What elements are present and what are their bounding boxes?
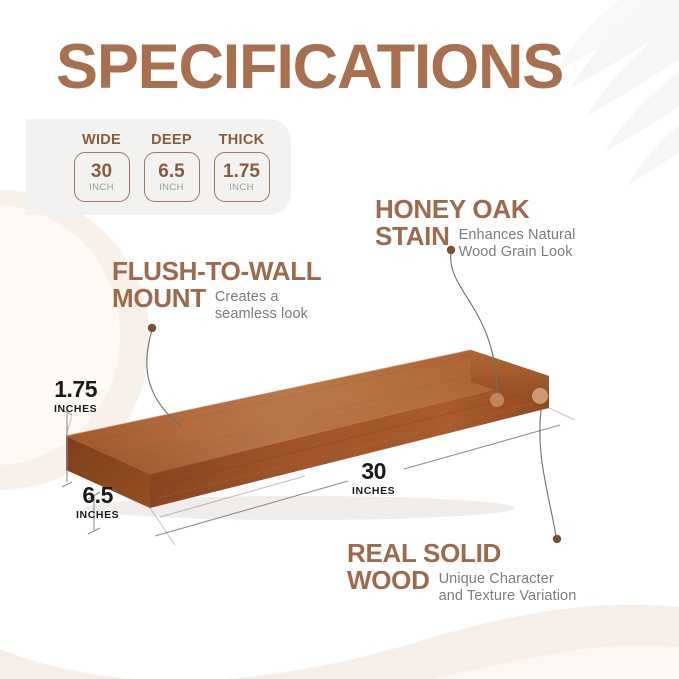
callout-wood-heading-line2: WOOD [347, 567, 430, 594]
callout-flush-subtext: Creates a seamless look [215, 285, 308, 324]
spec-value-thick: 1.75 [223, 162, 260, 181]
shelf-front-face [150, 376, 549, 508]
spec-unit-wide: INCH [89, 182, 114, 193]
leader-contact-stain [490, 393, 504, 407]
spec-unit-deep: INCH [159, 182, 184, 193]
leader-dot-flush [148, 324, 156, 332]
spec-item-thick: THICK 1.75 INCH [214, 132, 270, 202]
dimension-depth-unit: INCHES [76, 509, 119, 521]
leader-contact-wood [532, 388, 548, 404]
callout-wood-sub-line1: Unique Character [439, 571, 577, 589]
spec-label-thick: THICK [219, 132, 265, 148]
dimension-label-depth: 6.5 INCHES [76, 484, 119, 521]
leader-wood [540, 410, 556, 536]
callout-real-solid-wood: REAL SOLID WOOD Unique Character and Tex… [347, 540, 576, 606]
cream-blob-inner [0, 205, 120, 465]
spec-box-deep: 6.5 INCH [144, 152, 200, 202]
callout-wood-subtext: Unique Character and Texture Variation [439, 567, 577, 606]
infographic-canvas: SPECIFICATIONS WIDE 30 INCH DEEP 6.5 INC… [0, 0, 679, 679]
spec-label-deep: DEEP [151, 132, 192, 148]
callout-flush-to-wall-mount: FLUSH-TO-WALL MOUNT Creates a seamless l… [112, 258, 321, 324]
spec-value-wide: 30 [91, 162, 112, 181]
page-title: SPECIFICATIONS [56, 36, 563, 99]
bottom-wave-shape [0, 529, 679, 679]
callout-stain-heading-line2: STAIN [375, 223, 450, 250]
callout-wood-sub-line2: and Texture Variation [439, 588, 577, 606]
spec-item-wide: WIDE 30 INCH [74, 132, 130, 202]
callout-flush-heading-line1: FLUSH-TO-WALL [112, 258, 321, 285]
callout-wood-heading-line1: REAL SOLID [347, 540, 576, 567]
callout-stain-sub-line2: Wood Grain Look [459, 244, 576, 262]
shelf-right-end-face [471, 350, 549, 408]
dimension-thickness-unit: INCHES [54, 403, 97, 415]
spec-item-deep: DEEP 6.5 INCH [144, 132, 200, 202]
callout-honey-oak-stain: HONEY OAK STAIN Enhances Natural Wood Gr… [375, 196, 575, 262]
spec-box-thick: 1.75 INCH [214, 152, 270, 202]
dimension-label-width: 30 INCHES [352, 460, 395, 497]
callout-flush-heading-line2: MOUNT [112, 285, 206, 312]
callout-flush-sub-line1: Creates a [215, 289, 308, 307]
dimension-width-value: 30 [352, 460, 395, 483]
spec-label-wide: WIDE [82, 132, 121, 148]
leader-stain [451, 252, 497, 398]
callout-flush-sub-line2: seamless look [215, 306, 308, 324]
specification-card: WIDE 30 INCH DEEP 6.5 INCH THICK 1.75 IN… [26, 119, 291, 215]
leader-flush [147, 330, 182, 427]
cream-blob-outer [0, 190, 150, 490]
spec-unit-thick: INCH [229, 182, 254, 193]
dimension-thickness-value: 1.75 [54, 378, 97, 401]
callout-stain-subtext: Enhances Natural Wood Grain Look [459, 223, 576, 262]
spec-value-deep: 6.5 [158, 162, 184, 181]
dimension-width-unit: INCHES [352, 485, 395, 497]
spec-box-wide: 30 INCH [74, 152, 130, 202]
dimension-depth-value: 6.5 [76, 484, 119, 507]
dimension-label-thickness: 1.75 INCHES [54, 378, 97, 415]
callout-stain-sub-line1: Enhances Natural [459, 227, 576, 245]
callout-stain-heading-line1: HONEY OAK [375, 196, 575, 223]
shelf-top-face [66, 350, 549, 474]
